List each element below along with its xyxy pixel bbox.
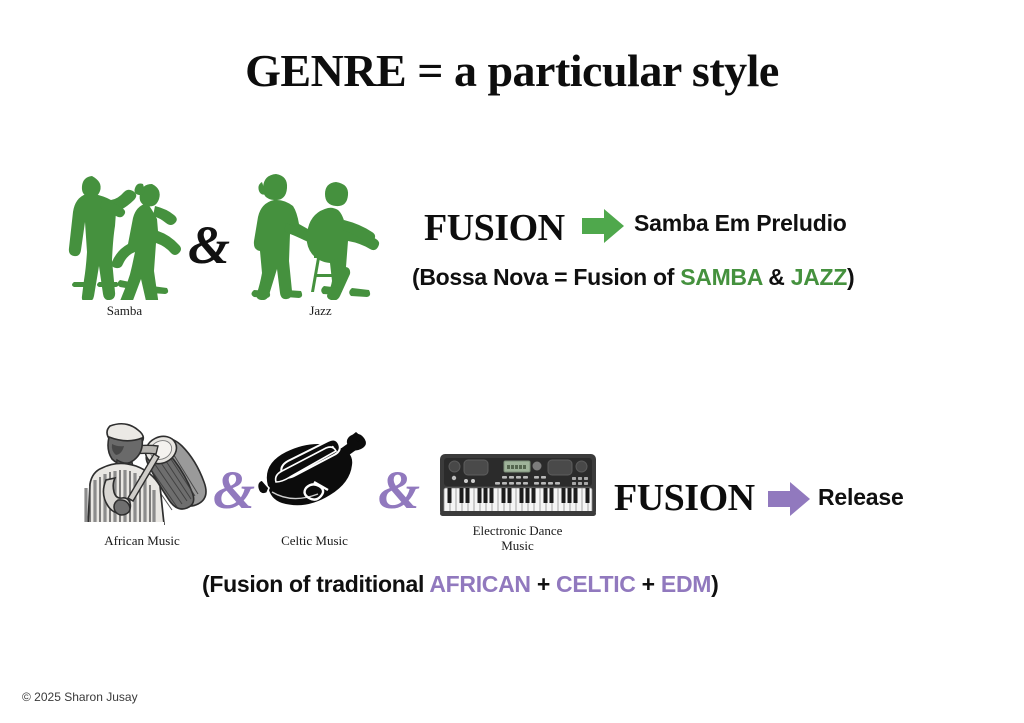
title-equals-sign: = — [406, 45, 454, 96]
slide-canvas: GENRE = a particular style — [0, 0, 1024, 723]
african-drummer-illustration — [62, 418, 222, 530]
purple-right-arrow-icon — [768, 482, 810, 516]
fusion-label-row1: FUSION — [424, 206, 565, 250]
formula-close-row2: ) — [711, 571, 718, 597]
formula-open-row1: (Bossa Nova = Fusion of — [412, 264, 680, 290]
jazz-musicians-silhouette — [248, 168, 393, 300]
page-title: GENRE = a particular style — [0, 44, 1024, 97]
electronic-keyboard-illustration — [430, 452, 605, 520]
formula-plus-2: + — [636, 571, 661, 597]
item-african-music: African Music — [62, 418, 222, 549]
formula-joiner-row1: & — [762, 264, 791, 290]
item-samba: Samba — [52, 160, 197, 319]
item-celtic-music: Celtic Music — [252, 430, 377, 549]
ampersand-row2-first: & — [213, 463, 255, 517]
result-label-row2: Release — [818, 484, 904, 511]
formula-term-samba: SAMBA — [680, 264, 762, 290]
formula-term-jazz: JAZZ — [791, 264, 847, 290]
title-rest-phrase: a particular style — [454, 45, 779, 96]
formula-term-celtic: CELTIC — [556, 571, 636, 597]
green-right-arrow-icon — [582, 209, 624, 243]
item-label-electronic-dance-music: Electronic Dance Music — [458, 524, 578, 554]
samba-dancers-silhouette — [52, 160, 197, 300]
fusion-label-row2: FUSION — [614, 476, 755, 520]
formula-term-edm: EDM — [661, 571, 711, 597]
item-label-jazz: Jazz — [248, 304, 393, 319]
result-label-row1: Samba Em Preludio — [634, 210, 847, 237]
item-label-celtic-music: Celtic Music — [252, 534, 377, 549]
item-jazz: Jazz — [248, 168, 393, 319]
formula-open-row2: (Fusion of traditional — [202, 571, 429, 597]
item-label-samba: Samba — [52, 304, 197, 319]
copyright-footer: © 2025 Sharon Jusay — [22, 690, 138, 704]
celtic-hurdy-gurdy-illustration — [252, 430, 377, 530]
formula-african-celtic-edm: (Fusion of traditional AFRICAN + CELTIC … — [202, 571, 718, 598]
item-label-african-music: African Music — [62, 534, 222, 549]
item-electronic-dance-music: Electronic Dance Music — [430, 452, 605, 554]
formula-close-row1: ) — [847, 264, 854, 290]
formula-term-african: AFRICAN — [429, 571, 530, 597]
ampersand-row1: & — [188, 218, 230, 272]
ampersand-row2-second: & — [378, 463, 420, 517]
formula-bossa-nova: (Bossa Nova = Fusion of SAMBA & JAZZ) — [412, 264, 854, 291]
formula-plus-1: + — [531, 571, 556, 597]
title-main-word: GENRE — [245, 45, 406, 96]
